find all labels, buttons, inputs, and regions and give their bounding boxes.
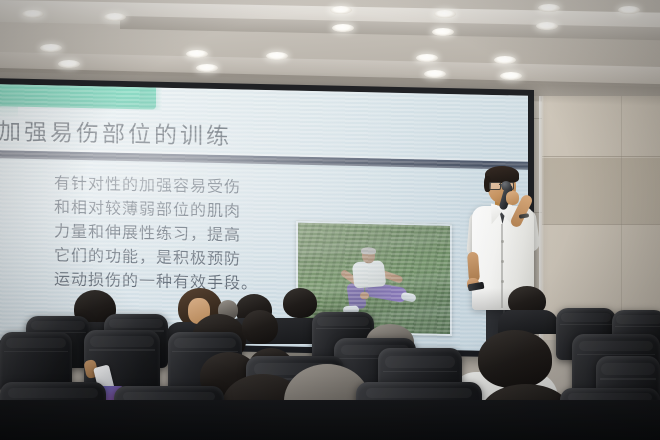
ceiling-downlight bbox=[538, 4, 560, 12]
presenter-hand-right bbox=[506, 191, 519, 205]
ceiling-downlight bbox=[40, 44, 62, 52]
ceiling-downlight bbox=[330, 6, 352, 14]
ceiling-downlight bbox=[266, 52, 288, 60]
ceiling-downlight bbox=[434, 10, 456, 18]
pillar-seam bbox=[542, 156, 660, 157]
ceiling-downlight bbox=[494, 56, 516, 64]
ceiling-downlight bbox=[196, 64, 218, 72]
audience-head bbox=[242, 310, 278, 344]
ceiling-downlight bbox=[432, 28, 454, 36]
ceiling-downlight bbox=[22, 10, 44, 18]
microphone-head bbox=[501, 181, 511, 190]
ceiling-downlight bbox=[536, 22, 558, 30]
audience-head bbox=[478, 330, 552, 388]
ceiling-downlight bbox=[104, 13, 126, 21]
ceiling-downlight bbox=[500, 72, 522, 80]
ceiling-downlight bbox=[186, 50, 208, 58]
ceiling-downlight bbox=[618, 6, 640, 14]
ceiling-downlight bbox=[58, 60, 80, 68]
audience-head bbox=[283, 288, 317, 318]
foreground-shadow bbox=[0, 400, 660, 440]
ceiling-downlight bbox=[416, 54, 438, 62]
ceiling-downlight bbox=[424, 70, 446, 78]
ceiling-downlight bbox=[332, 24, 354, 32]
lecture-hall-photo: 加强易伤部位的训练 有针对性的加强容易受伤 和相对较薄弱部位的肌肉 力量和伸展性… bbox=[0, 0, 660, 440]
